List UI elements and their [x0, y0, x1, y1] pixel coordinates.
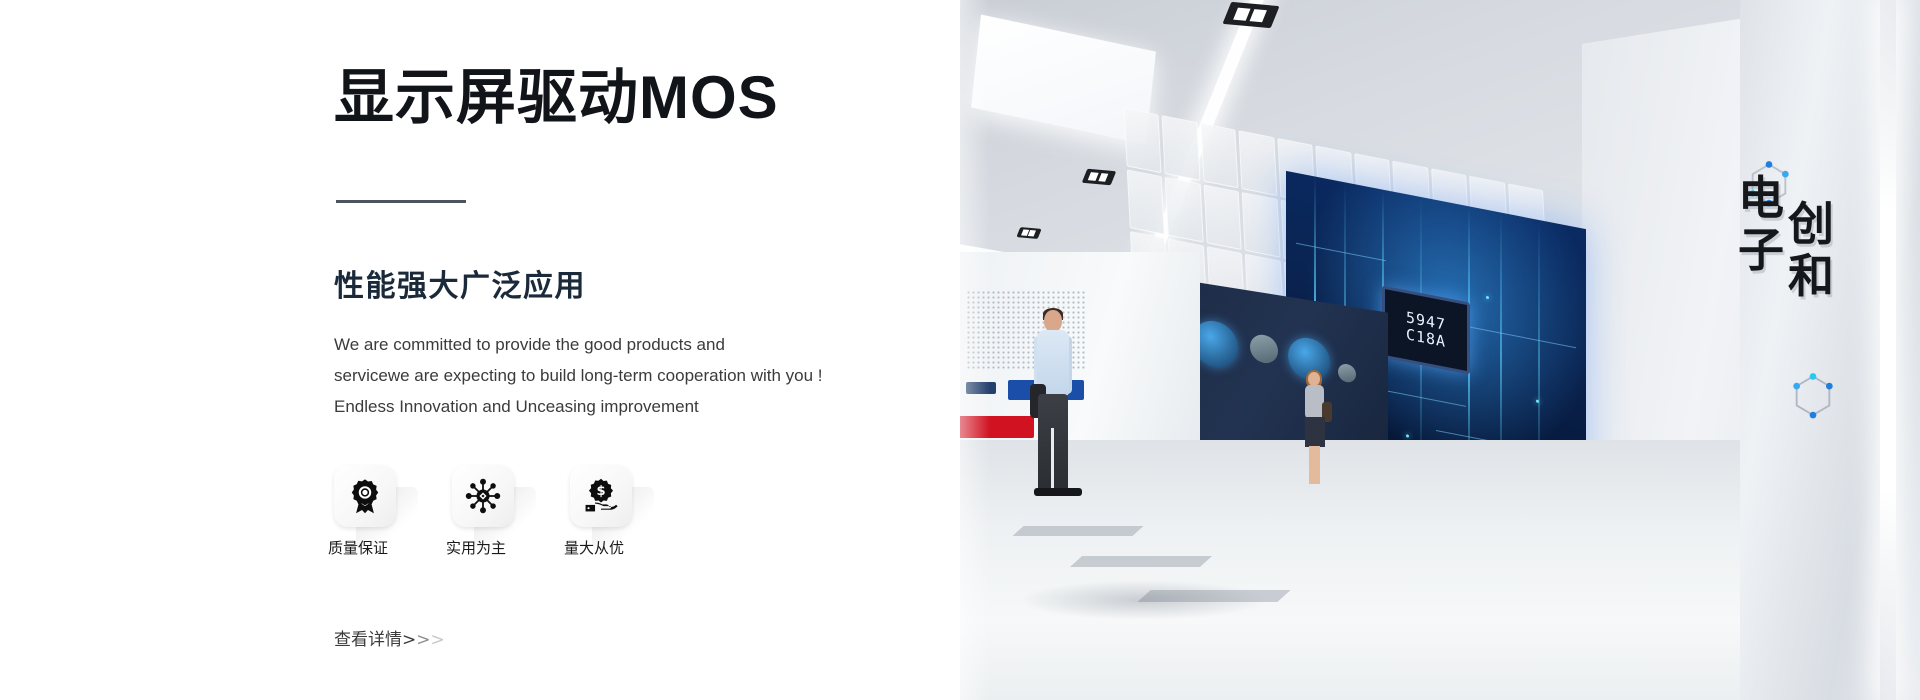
chevron-2: > [416, 630, 430, 650]
title-divider [336, 200, 466, 203]
molecule-hexagon-icon [1790, 372, 1836, 424]
svg-text:$: $ [596, 484, 605, 499]
brand-char: 电 [1738, 172, 1784, 224]
subtitle: 性能强大广泛应用 [334, 267, 586, 307]
description-line-1: We are committed to provide the good pro… [334, 329, 894, 360]
network-hub-icon [464, 477, 502, 515]
wall-plaque [966, 382, 996, 394]
feature-label: 质量保证 [328, 537, 428, 558]
description-line-2: servicewe are expecting to build long-te… [334, 360, 894, 391]
brand-char-column-2: 创 和 [1788, 198, 1834, 302]
ceiling-spotlight-icon [1222, 2, 1279, 28]
page-title: 显示屏驱动MOS [334, 62, 779, 134]
feature-tile[interactable]: $ [570, 465, 632, 527]
brand-wall-text: 电 子 创 和 [1738, 172, 1834, 302]
chip-graphic: 5947 C18A [1382, 286, 1470, 375]
wall-light-glow [1880, 0, 1896, 700]
brand-char: 子 [1738, 224, 1784, 276]
feature-item-bulk-discount[interactable]: $ 量大从优 [570, 465, 632, 527]
wall-plaque-red [958, 416, 1034, 438]
person-standing [1026, 310, 1086, 520]
description-line-3: Endless Innovation and Unceasing improve… [334, 391, 894, 422]
description-paragraph: We are committed to provide the good pro… [334, 329, 894, 422]
view-details-label: 查看详情 [334, 630, 402, 650]
text-panel: 显示屏驱动MOS 性能强大广泛应用 We are committed to pr… [0, 0, 960, 700]
feature-tile[interactable] [452, 465, 514, 527]
feature-item-quality[interactable]: 质量保证 [334, 465, 396, 527]
feature-label: 量大从优 [564, 537, 664, 558]
view-details-link[interactable]: 查看详情>>> [334, 625, 445, 650]
hero-banner: 显示屏驱动MOS 性能强大广泛应用 We are committed to pr… [0, 0, 1920, 700]
person-walking [1298, 372, 1332, 492]
brand-wall: 电 子 创 和 [1740, 0, 1920, 700]
brand-char: 和 [1788, 250, 1834, 302]
award-badge-icon [346, 477, 384, 515]
brand-char: 创 [1788, 198, 1834, 250]
showroom-photo: 5947 C18A [958, 0, 1920, 700]
hand-money-icon: $ [582, 477, 620, 515]
ceiling-spotlight-icon [1082, 169, 1117, 186]
ceiling-spotlight-icon [1016, 227, 1041, 239]
feature-label: 实用为主 [446, 537, 546, 558]
chevron-3: > [431, 630, 445, 650]
brand-char-column-1: 电 子 [1738, 172, 1784, 302]
feature-item-practical[interactable]: 实用为主 [452, 465, 514, 527]
feature-tile[interactable] [334, 465, 396, 527]
feature-list: 质量保证 [334, 465, 632, 527]
chevron-1: > [402, 630, 416, 650]
